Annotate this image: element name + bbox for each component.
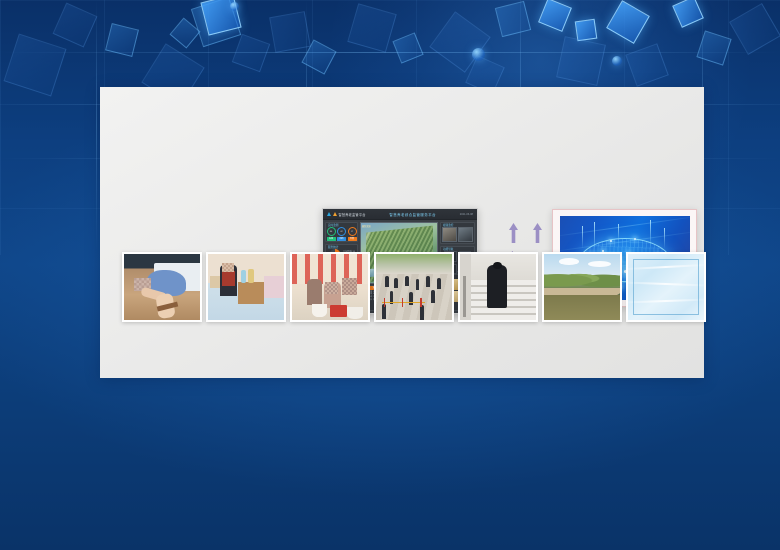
evidence-photo-strip — [122, 252, 706, 322]
video-feeds-card[interactable]: 视频监控 — [440, 222, 475, 244]
video-feed[interactable] — [458, 227, 473, 242]
photo-image — [628, 254, 704, 320]
decor-line — [96, 0, 97, 250]
dashboard-title: 智慧养老综合监管服务平台 — [366, 212, 460, 217]
decor-dot — [230, 2, 239, 11]
arrow-up-icon — [508, 222, 519, 244]
decor-dot — [612, 56, 622, 66]
photo-fall-detection[interactable] — [122, 252, 202, 322]
kpi-gauge-row: 86 在线 42 机构 17 告警 — [327, 224, 356, 241]
photo-stairs-walking[interactable] — [458, 252, 538, 322]
photo-blue-texture[interactable] — [626, 252, 706, 322]
photo-plaza-crowd[interactable] — [374, 252, 454, 322]
slide-content-panel: 智慧养老监管平台 智慧养老综合监管服务平台 2021-06-08 实时监测 86… — [100, 87, 704, 378]
kpi-gauges-label: 实时监测 — [328, 223, 338, 227]
kpi-gauge[interactable]: 86 在线 — [327, 227, 336, 241]
gauge-label: 机构 — [337, 237, 346, 241]
gauge-ring: 17 — [348, 227, 357, 236]
photo-bedroom-care[interactable] — [206, 252, 286, 322]
brain-ray — [664, 228, 665, 248]
nav-buttons-label: 功能导航 — [443, 247, 453, 251]
photo-image — [208, 254, 284, 320]
service-donut-label: 服务统计 — [328, 245, 338, 249]
gauge-label: 在线 — [327, 237, 336, 241]
arrow-up — [532, 222, 543, 244]
brain-ray — [582, 226, 583, 248]
platform-logo-icon — [327, 212, 337, 216]
photo-image — [124, 254, 200, 320]
decor-square — [556, 36, 606, 86]
arrow-up — [508, 222, 519, 244]
video-feed[interactable] — [442, 227, 457, 242]
dashboard-header: 智慧养老监管平台 智慧养老综合监管服务平台 2021-06-08 — [323, 209, 477, 220]
kpi-gauge[interactable]: 42 机构 — [337, 227, 346, 241]
decor-square — [575, 19, 598, 42]
decor-square — [269, 11, 311, 53]
video-feeds-label: 视频监控 — [443, 223, 453, 227]
gauge-ring: 42 — [337, 227, 346, 236]
photo-activity-room[interactable] — [290, 252, 370, 322]
photo-image — [376, 254, 452, 320]
dashboard-brand: 智慧养老监管平台 — [339, 212, 366, 217]
decor-dot — [472, 48, 485, 61]
photo-image — [460, 254, 536, 320]
photo-image — [544, 254, 620, 320]
gauge-label: 告警 — [348, 237, 357, 241]
photo-image — [292, 254, 368, 320]
campus-map-label: 园区实景 — [362, 224, 371, 228]
kpi-gauge[interactable]: 17 告警 — [348, 227, 357, 241]
kpi-gauges-card[interactable]: 实时监测 86 在线 42 机构 17 告警 — [325, 222, 358, 242]
photo-riverside-park[interactable] — [542, 252, 622, 322]
gauge-ring: 86 — [327, 227, 336, 236]
arrow-up-icon — [532, 222, 543, 244]
dashboard-date: 2021-06-08 — [460, 213, 473, 216]
video-feed-row — [442, 227, 473, 242]
